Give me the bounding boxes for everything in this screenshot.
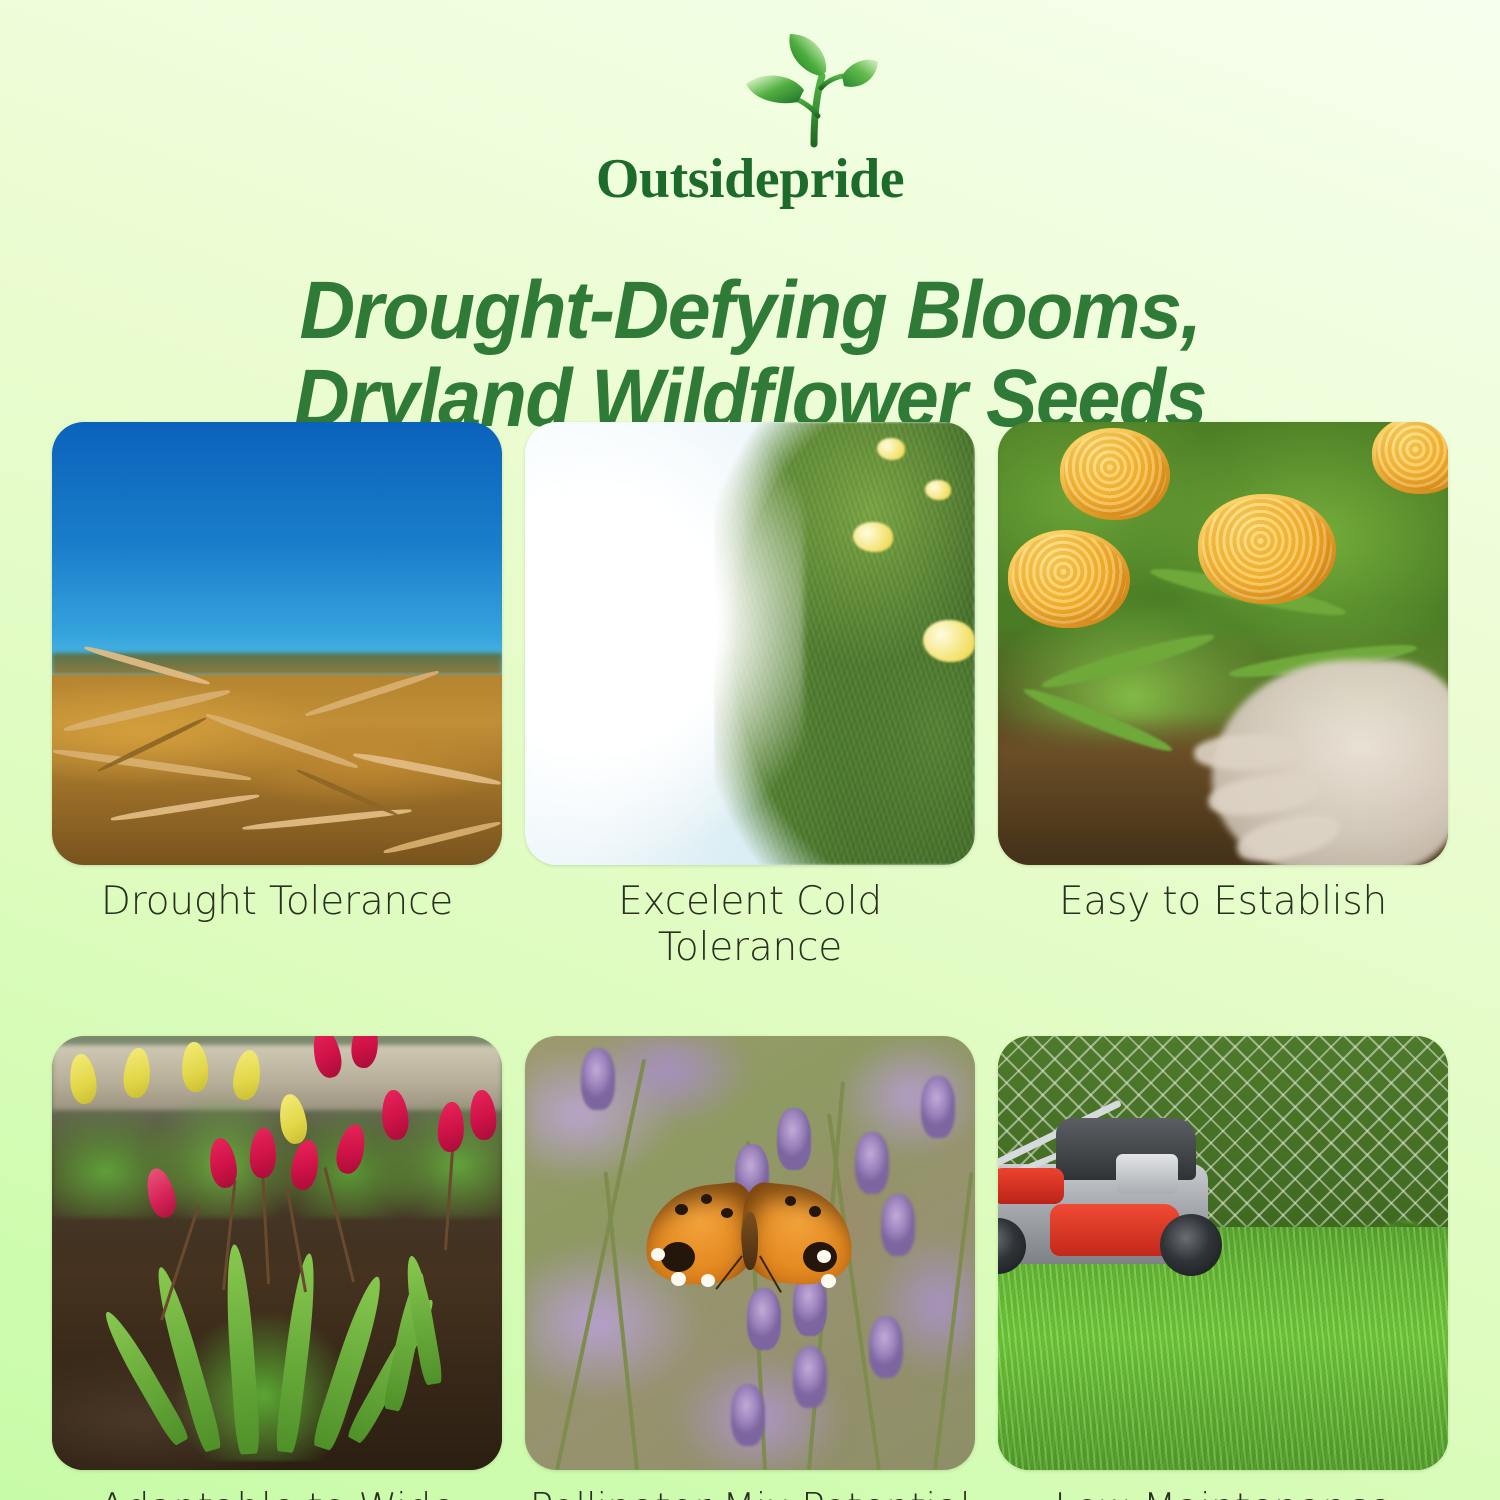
product-infographic: Outsidepride Drought-Defying Blooms, Dry… <box>0 0 1500 1500</box>
feature-card-pollinator-mix: Pollinator Mix Potential <box>525 1036 975 1500</box>
feature-row-bottom: Adaptable to Wide Range of Soil <box>52 1036 1450 1500</box>
feature-row-top: Drought Tolerance Excelent Cold Toleranc… <box>52 422 1450 971</box>
background-foliage <box>52 1062 502 1218</box>
feature-caption: Excelent Cold Tolerance <box>525 879 975 971</box>
mower-handle-mount <box>998 1168 1064 1204</box>
headline-line-1: Drought-Defying Blooms, <box>45 267 1455 355</box>
brand-logo: Outsidepride <box>0 24 1500 194</box>
mower-air-filter <box>1116 1154 1178 1194</box>
butterfly-body <box>742 1212 758 1270</box>
feature-grid: Drought Tolerance Excelent Cold Toleranc… <box>52 422 1450 1500</box>
arid-dry-brush-landscape-photo <box>52 422 502 865</box>
sprout-leaves-icon <box>742 32 882 150</box>
brand-wordmark: Outsidepride <box>0 150 1500 208</box>
feature-card-adaptable-soil: Adaptable to Wide Range of Soil <box>52 1036 502 1500</box>
feature-caption: Pollinator Mix Potential <box>530 1486 971 1500</box>
page-title: Drought-Defying Blooms, Dryland Wildflow… <box>45 267 1455 443</box>
painted-lady-butterfly-on-lavender-photo <box>525 1036 975 1470</box>
feature-caption: Adaptable to Wide Range of Soil <box>99 1486 455 1500</box>
feature-caption: Drought Tolerance <box>101 879 453 925</box>
feature-card-cold-tolerance: Excelent Cold Tolerance <box>525 422 975 971</box>
feature-caption-line-1: Adaptable to Wide <box>99 1486 455 1500</box>
feature-caption: Low Maintenance <box>1054 1486 1391 1500</box>
marigold-planting-gloved-hand-photo <box>998 422 1448 865</box>
snow-meets-green-moss-photo <box>525 422 975 865</box>
feature-card-easy-to-establish: Easy to Establish <box>998 422 1448 971</box>
feature-caption: Easy to Establish <box>1059 879 1387 925</box>
feature-card-low-maintenance: Low Maintenance <box>998 1036 1448 1500</box>
snow-drift <box>525 422 804 865</box>
feature-card-drought-tolerance: Drought Tolerance <box>52 422 502 971</box>
red-tulips-in-soil-photo <box>52 1036 502 1470</box>
lawn-mower-on-green-lawn-photo <box>998 1036 1448 1470</box>
